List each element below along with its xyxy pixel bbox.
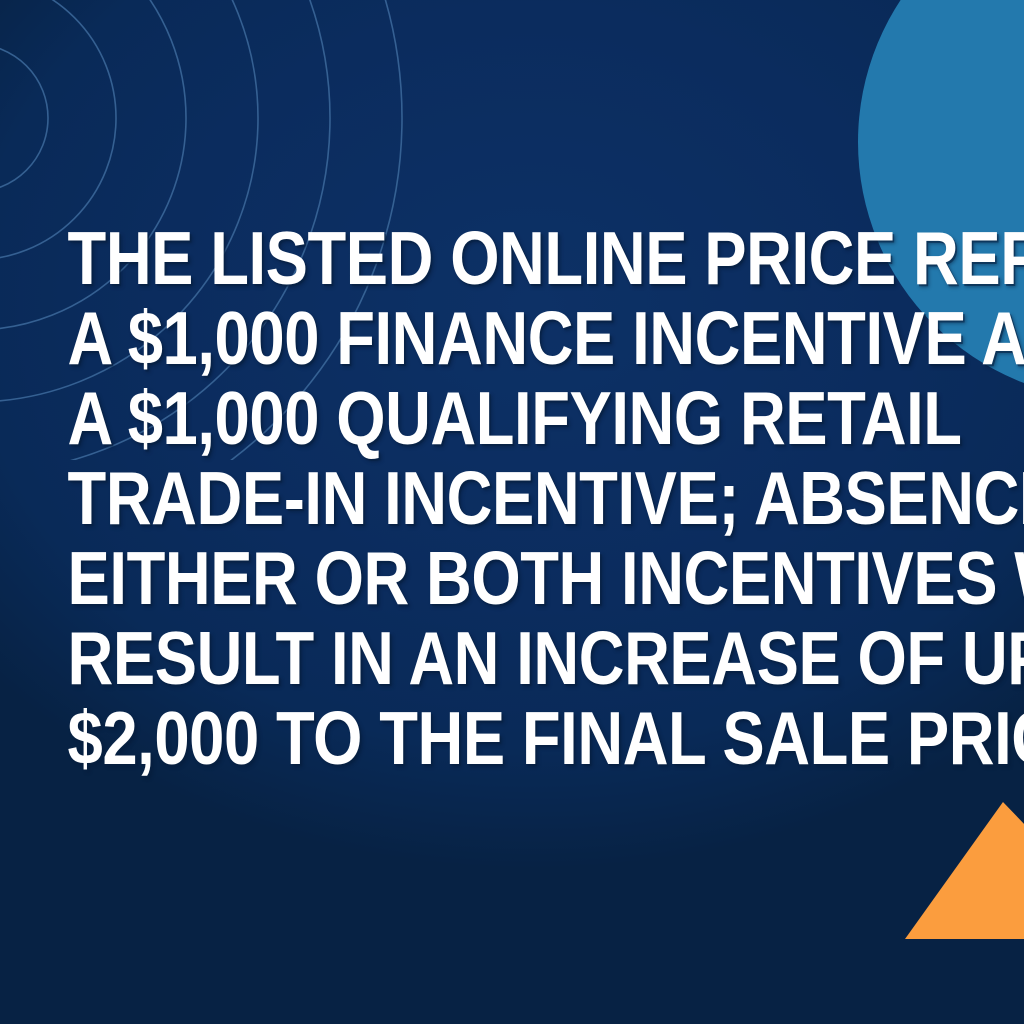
disclaimer-headline: THE LISTED ONLINE PRICE REFLECTS A $1,00… [0, 218, 1024, 778]
headline-line-4: TRADE-IN INCENTIVE; ABSENCE OF [68, 458, 957, 538]
headline-line-6: RESULT IN AN INCREASE OF UP TO [68, 618, 957, 698]
headline-line-2: A $1,000 FINANCE INCENTIVE AND [68, 298, 957, 378]
disclaimer-graphic: THE LISTED ONLINE PRICE REFLECTS A $1,00… [0, 0, 1024, 1024]
headline-line-3: A $1,000 QUALIFYING RETAIL [68, 378, 957, 458]
headline-line-7: $2,000 TO THE FINAL SALE PRICE. [68, 698, 957, 778]
headline-line-1: THE LISTED ONLINE PRICE REFLECTS [68, 218, 957, 298]
headline-line-5: EITHER OR BOTH INCENTIVES WILL [68, 538, 957, 618]
